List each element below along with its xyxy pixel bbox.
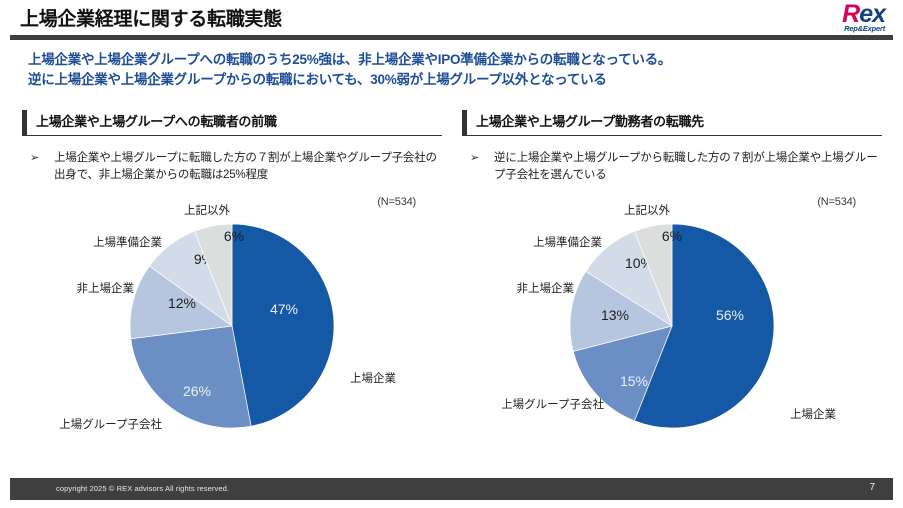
- bullet-arrow-icon: ➢: [30, 150, 39, 167]
- pie-category-label: 上場準備企業: [93, 235, 162, 249]
- pie-slice-value-label: 6%: [662, 228, 682, 244]
- rex-logo: Rex Rep&Expert: [793, 2, 885, 34]
- slide-footer: copyright 2025 © REX advisors All rights…: [10, 478, 893, 500]
- panel-next-job: 上場企業や上場グループ勤務者の転職先 ➢ 逆に上場企業や上場グループから転職した…: [462, 110, 882, 446]
- bullet-arrow-icon: ➢: [470, 150, 479, 167]
- pie-category-label: 非上場企業: [517, 281, 575, 295]
- panel-right-heading: 上場企業や上場グループ勤務者の転職先: [462, 110, 882, 136]
- panel-right-bullet: ➢ 逆に上場企業や上場グループから転職した方の７割が上場企業や上場グループ子会社…: [462, 150, 882, 184]
- summary-line-2: 逆に上場企業や上場企業グループからの転職においても、30%弱が上場グループ以外と…: [28, 70, 878, 90]
- footer-copyright: copyright 2025 © REX advisors All rights…: [56, 484, 229, 493]
- summary-line-1: 上場企業や上場企業グループへの転職のうち25%強は、非上場企業やIPO準備企業か…: [28, 50, 878, 70]
- pie-category-label: 上記以外: [184, 204, 230, 217]
- chart-area-left: (N=534) 47%26%12%9%6%上場企業上場グループ子会社非上場企業上…: [22, 196, 442, 446]
- panel-right-heading-text: 上場企業や上場グループ勤務者の転職先: [476, 111, 704, 130]
- pie-slice: [232, 224, 334, 426]
- panel-right-bullet-text: 逆に上場企業や上場グループから転職した方の７割が上場企業や上場グループ子会社を選…: [494, 152, 878, 181]
- footer-page-number: 7: [869, 482, 875, 493]
- pie-category-label: 上場グループ子会社: [501, 397, 604, 411]
- pie-slice-value-label: 12%: [168, 295, 196, 311]
- panel-left-heading: 上場企業や上場グループへの転職者の前職: [22, 110, 442, 136]
- pie-slice-value-label: 15%: [620, 373, 648, 389]
- rex-logo-tagline: Rep&Expert: [793, 24, 885, 33]
- pie-slice-value-label: 47%: [270, 301, 298, 317]
- pie-category-label: 上場企業: [350, 371, 396, 385]
- chart-area-right: (N=534) 56%15%13%10%6%上場企業上場グループ子会社非上場企業…: [462, 196, 882, 446]
- slide-header: 上場企業経理に関する転職実態 Rex Rep&Expert: [0, 0, 903, 38]
- pie-slice: [131, 326, 251, 428]
- pie-slice-value-label: 56%: [716, 307, 744, 323]
- pie-chart-next-job: 56%15%13%10%6%上場企業上場グループ子会社非上場企業上場準備企業上記…: [462, 196, 882, 446]
- summary-statement: 上場企業や上場企業グループへの転職のうち25%強は、非上場企業やIPO準備企業か…: [28, 50, 878, 90]
- header-divider: [10, 35, 893, 40]
- panel-left-bullet-text: 上場企業や上場グループに転職した方の７割が上場企業やグループ子会社の出身で、非上…: [54, 152, 437, 181]
- page-title: 上場企業経理に関する転職実態: [20, 4, 282, 31]
- pie-slice-value-label: 6%: [224, 228, 244, 244]
- panel-left-heading-text: 上場企業や上場グループへの転職者の前職: [36, 111, 277, 130]
- panel-left-bullet: ➢ 上場企業や上場グループに転職した方の７割が上場企業やグループ子会社の出身で、…: [22, 150, 442, 184]
- pie-category-label: 上記以外: [624, 204, 670, 217]
- pie-category-label: 非上場企業: [77, 281, 135, 295]
- pie-category-label: 上場準備企業: [533, 235, 602, 249]
- pie-slice-value-label: 13%: [601, 307, 629, 323]
- pie-slice-value-label: 26%: [183, 383, 211, 399]
- panel-previous-job: 上場企業や上場グループへの転職者の前職 ➢ 上場企業や上場グループに転職した方の…: [22, 110, 442, 446]
- pie-category-label: 上場企業: [790, 407, 836, 421]
- pie-category-label: 上場グループ子会社: [59, 417, 162, 431]
- pie-chart-previous-job: 47%26%12%9%6%上場企業上場グループ子会社非上場企業上場準備企業上記以…: [22, 196, 442, 446]
